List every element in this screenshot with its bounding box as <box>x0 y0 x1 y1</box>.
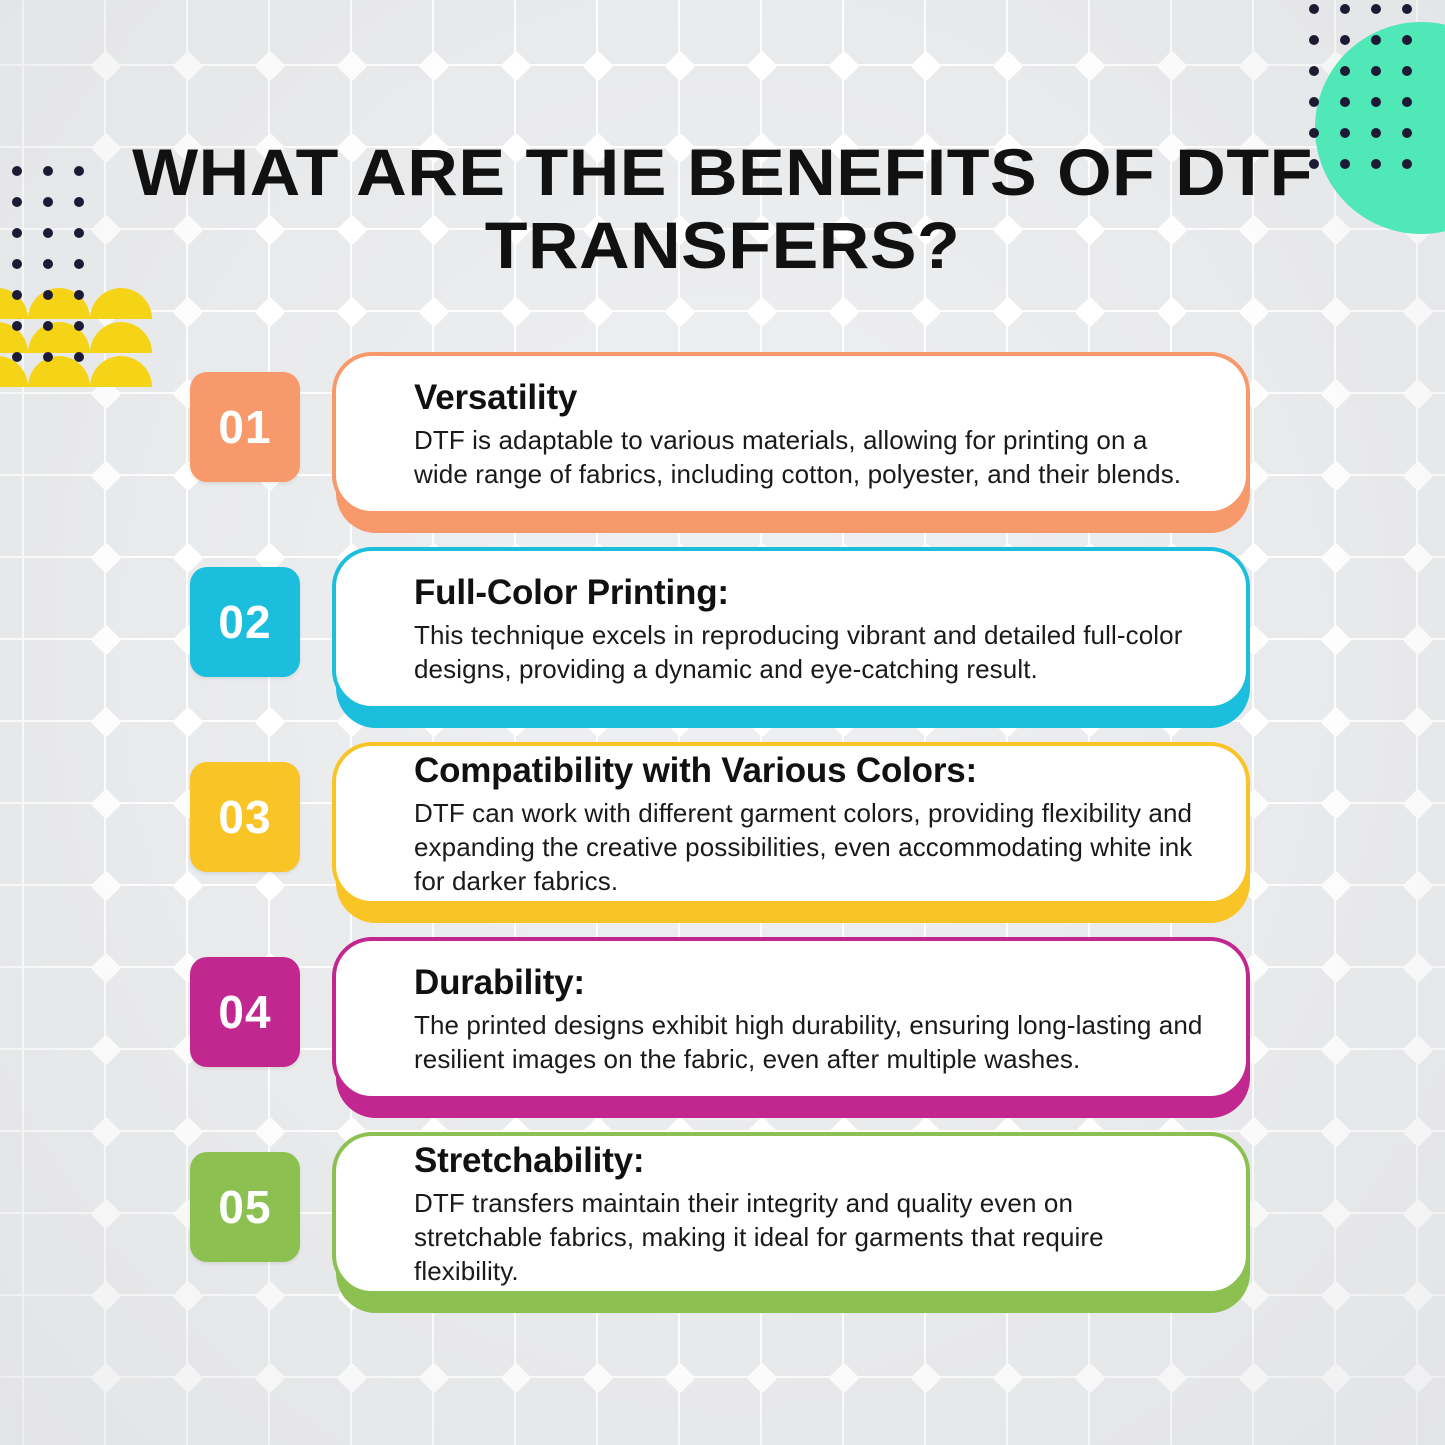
card-description: DTF can work with different garment colo… <box>414 797 1206 898</box>
card-description: This technique excels in reproducing vib… <box>414 619 1206 687</box>
benefit-number-badge: 02 <box>190 567 300 677</box>
benefit-card: Compatibility with Various Colors:DTF ca… <box>332 742 1250 912</box>
card-description: DTF is adaptable to various materials, a… <box>414 424 1206 492</box>
benefits-list: 01VersatilityDTF is adaptable to various… <box>0 352 1445 1327</box>
card-description: DTF transfers maintain their integrity a… <box>414 1187 1206 1288</box>
card-heading: Full-Color Printing: <box>414 572 1206 613</box>
card-description: The printed designs exhibit high durabil… <box>414 1009 1206 1077</box>
benefit-card: Durability:The printed designs exhibit h… <box>332 937 1250 1107</box>
benefit-number-badge: 04 <box>190 957 300 1067</box>
card-heading: Compatibility with Various Colors: <box>414 750 1206 791</box>
benefit-row: 01VersatilityDTF is adaptable to various… <box>0 352 1445 547</box>
card-heading: Durability: <box>414 962 1206 1003</box>
benefit-row: 04Durability:The printed designs exhibit… <box>0 937 1445 1132</box>
benefit-number-badge: 01 <box>190 372 300 482</box>
benefit-card: Stretchability:DTF transfers maintain th… <box>332 1132 1250 1302</box>
card-heading: Versatility <box>414 377 1206 418</box>
card-body: Full-Color Printing:This technique excel… <box>332 547 1250 710</box>
benefit-number-badge: 03 <box>190 762 300 872</box>
benefit-row: 05Stretchability:DTF transfers maintain … <box>0 1132 1445 1327</box>
card-body: Compatibility with Various Colors:DTF ca… <box>332 742 1250 905</box>
infographic-poster: WHAT ARE THE BENEFITS OF DTF TRANSFERS? … <box>0 0 1445 1445</box>
benefit-card: Full-Color Printing:This technique excel… <box>332 547 1250 717</box>
card-body: Durability:The printed designs exhibit h… <box>332 937 1250 1100</box>
page-title: WHAT ARE THE BENEFITS OF DTF TRANSFERS? <box>94 136 1350 281</box>
card-body: Stretchability:DTF transfers maintain th… <box>332 1132 1250 1295</box>
card-body: VersatilityDTF is adaptable to various m… <box>332 352 1250 515</box>
benefit-row: 02Full-Color Printing:This technique exc… <box>0 547 1445 742</box>
benefit-number-badge: 05 <box>190 1152 300 1262</box>
benefit-row: 03Compatibility with Various Colors:DTF … <box>0 742 1445 937</box>
card-heading: Stretchability: <box>414 1140 1206 1181</box>
benefit-card: VersatilityDTF is adaptable to various m… <box>332 352 1250 522</box>
